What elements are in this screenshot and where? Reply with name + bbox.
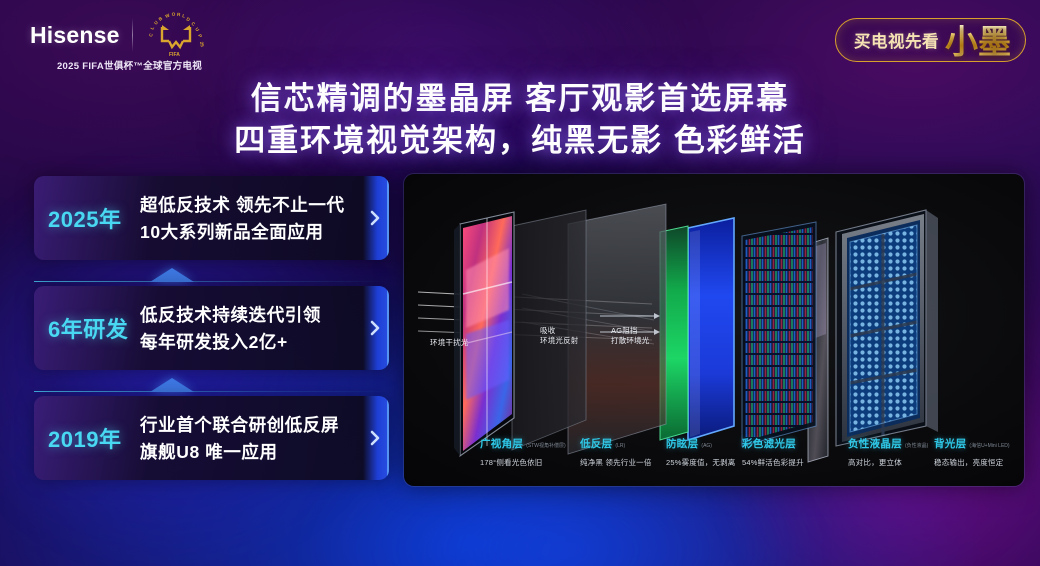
layer-label-title: 负性液晶层 [848, 438, 902, 450]
svg-text:L: L [149, 25, 155, 30]
svg-text:U: U [194, 27, 200, 33]
svg-text:C: C [190, 21, 196, 27]
layer-lc-matrix [742, 222, 816, 446]
layer-label-sub: 纯净黑 领先行业一倍 [580, 457, 652, 468]
timeline-list: 2025年 超低反技术 领先不止一代 10大系列新品全面应用 6年研发 低反技术… [34, 176, 389, 480]
layer-label-sub: 54%鲜活色彩提升 [742, 457, 804, 468]
timeline-card-body: 低反技术持续迭代引领 每年研发投入2亿+ [140, 304, 321, 353]
layer-label-paren: (AG) [701, 443, 712, 449]
brand-divider [132, 18, 133, 52]
separator-line [34, 281, 389, 282]
headline-line-2: 四重环境视觉架构，纯黑无影 色彩鲜活 [0, 120, 1040, 162]
svg-text:R: R [177, 12, 181, 17]
layer-label-paren: (海信U+Mini LED) [969, 443, 1009, 449]
brand-bar: Hisense C L [22, 14, 237, 78]
svg-text:25: 25 [199, 41, 205, 47]
timeline-card-body: 超低反技术 领先不止一代 10大系列新品全面应用 [140, 194, 345, 243]
chevron-right-icon [370, 430, 380, 446]
layer-backlight [836, 210, 938, 446]
fifa-club-world-cup-logo-icon: C L U B W O R L D C U P 25 FIFA [145, 11, 207, 59]
timeline-card-2025[interactable]: 2025年 超低反技术 领先不止一代 10大系列新品全面应用 [34, 176, 389, 260]
timeline-card-line-2: 每年研发投入2亿+ [140, 331, 321, 353]
timeline-year-label: 2019年 [48, 422, 140, 454]
annotation-ambient-light: 环境干扰光 [430, 338, 469, 348]
display-stack-panel: 环境干扰光 吸收 环境光反射 AG阻挡 打散环境光 广视角层(STW视角补偿层)… [404, 174, 1024, 486]
layer-label-title: 低反层 [580, 438, 612, 450]
chevron-up-icon [150, 378, 194, 392]
layer-label-title: 背光层 [934, 438, 966, 450]
layer-label-low-reflection: 低反层(LR) 纯净黑 领先行业一倍 [580, 434, 652, 468]
headline-line-1: 信芯精调的墨晶屏 客厅观影首选屏幕 [0, 78, 1040, 120]
layer-label-anti-glare: 防眩层(AG) 25%雾度值，无剥离 [666, 434, 736, 468]
brand-row: Hisense C L [22, 14, 237, 56]
chevron-up-icon [150, 268, 194, 282]
timeline-separator-2 [34, 370, 389, 396]
layer-label-paren: (LR) [615, 443, 625, 449]
svg-text:FIFA: FIFA [169, 52, 180, 58]
layer-label-sub: 高对比，更立体 [848, 457, 928, 468]
hisense-logo: Hisense [22, 22, 120, 49]
annotation-absorb-reflection: 吸收 环境光反射 [540, 326, 579, 346]
timeline-card-line-1: 超低反技术 领先不止一代 [140, 194, 345, 216]
timeline-card-line-1: 低反技术持续迭代引领 [140, 304, 321, 326]
layer-label-sub: 178°侧看光色依旧 [480, 457, 566, 468]
layer-label-title: 防眩层 [666, 438, 698, 450]
svg-text:O: O [171, 11, 176, 17]
layer-label-paren: (负性液晶) [905, 443, 928, 449]
annotation-text: 环境干扰光 [430, 338, 469, 347]
annotation-text-line-2: 打散环境光 [611, 336, 650, 346]
timeline-card-line-2: 旗舰U8 唯一应用 [140, 441, 339, 463]
layer-wide-view [454, 212, 514, 456]
timeline-year-label: 6年研发 [48, 312, 140, 344]
layer-label-title: 彩色滤光层 [742, 438, 796, 450]
chevron-right-icon [370, 210, 380, 226]
layer-label-title-wrap: 背光层(海信U+Mini LED) [934, 434, 1010, 452]
layer-label-backlight: 背光层(海信U+Mini LED) 稳态输出，亮度恒定 [934, 434, 1010, 468]
timeline-card-body: 行业首个联合研创低反屏 旗舰U8 唯一应用 [140, 414, 339, 463]
layer-label-title-wrap: 低反层(LR) [580, 434, 652, 452]
slide-root: Hisense C L [0, 0, 1040, 566]
layer-label-title-wrap: 负性液晶层(负性液晶) [848, 434, 928, 452]
headline-block: 信芯精调的墨晶屏 客厅观影首选屏幕 四重环境视觉架构，纯黑无影 色彩鲜活 [0, 78, 1040, 162]
svg-text:P: P [197, 34, 203, 39]
annotation-ag-block: AG阻挡 打散环境光 [611, 326, 650, 346]
timeline-separator-1 [34, 260, 389, 286]
layer-label-sub: 25%雾度值，无剥离 [666, 457, 736, 468]
promo-badge-highlight: 小墨 [945, 25, 1011, 58]
promo-badge[interactable]: 买电视先看 小墨 [835, 18, 1026, 62]
promo-badge-text: 买电视先看 [854, 28, 939, 52]
timeline-year-label: 2025年 [48, 202, 140, 234]
timeline-card-line-1: 行业首个联合研创低反屏 [140, 414, 339, 436]
layer-label-title-wrap: 广视角层(STW视角补偿层) [480, 434, 566, 452]
layer-blue-panel [688, 218, 734, 440]
layer-label-paren: (STW视角补偿层) [526, 443, 565, 449]
sponsor-line: 2025 FIFA世俱杯™全球官方电视 [22, 58, 237, 72]
annotation-text-line-1: AG阻挡 [611, 326, 650, 336]
svg-text:B: B [157, 15, 163, 21]
layer-label-wide-view: 广视角层(STW视角补偿层) 178°侧看光色依旧 [480, 434, 566, 468]
layer-label-negative-lc: 负性液晶层(负性液晶) 高对比，更立体 [848, 434, 928, 468]
layer-label-title-wrap: 防眩层(AG) [666, 434, 736, 452]
svg-text:W: W [164, 12, 171, 19]
annotation-text-line-1: 吸收 [540, 326, 579, 336]
layer-label-title: 广视角层 [480, 438, 523, 450]
timeline-card-6year[interactable]: 6年研发 低反技术持续迭代引领 每年研发投入2亿+ [34, 286, 389, 370]
layer-label-color-filter: 彩色滤光层 54%鲜活色彩提升 [742, 434, 804, 468]
timeline-card-line-2: 10大系列新品全面应用 [140, 221, 345, 243]
layer-label-title-wrap: 彩色滤光层 [742, 434, 804, 452]
svg-text:D: D [185, 16, 191, 22]
svg-text:L: L [181, 13, 185, 19]
separator-line [34, 391, 389, 392]
svg-text:C: C [148, 32, 154, 37]
annotation-text-line-2: 环境光反射 [540, 336, 579, 346]
layer-label-sub: 稳态输出，亮度恒定 [934, 457, 1010, 468]
timeline-card-2019[interactable]: 2019年 行业首个联合研创低反屏 旗舰U8 唯一应用 [34, 396, 389, 480]
layer-label-row: 广视角层(STW视角补偿层) 178°侧看光色依旧 低反层(LR) 纯净黑 领先… [404, 434, 1024, 474]
chevron-right-icon [370, 320, 380, 336]
